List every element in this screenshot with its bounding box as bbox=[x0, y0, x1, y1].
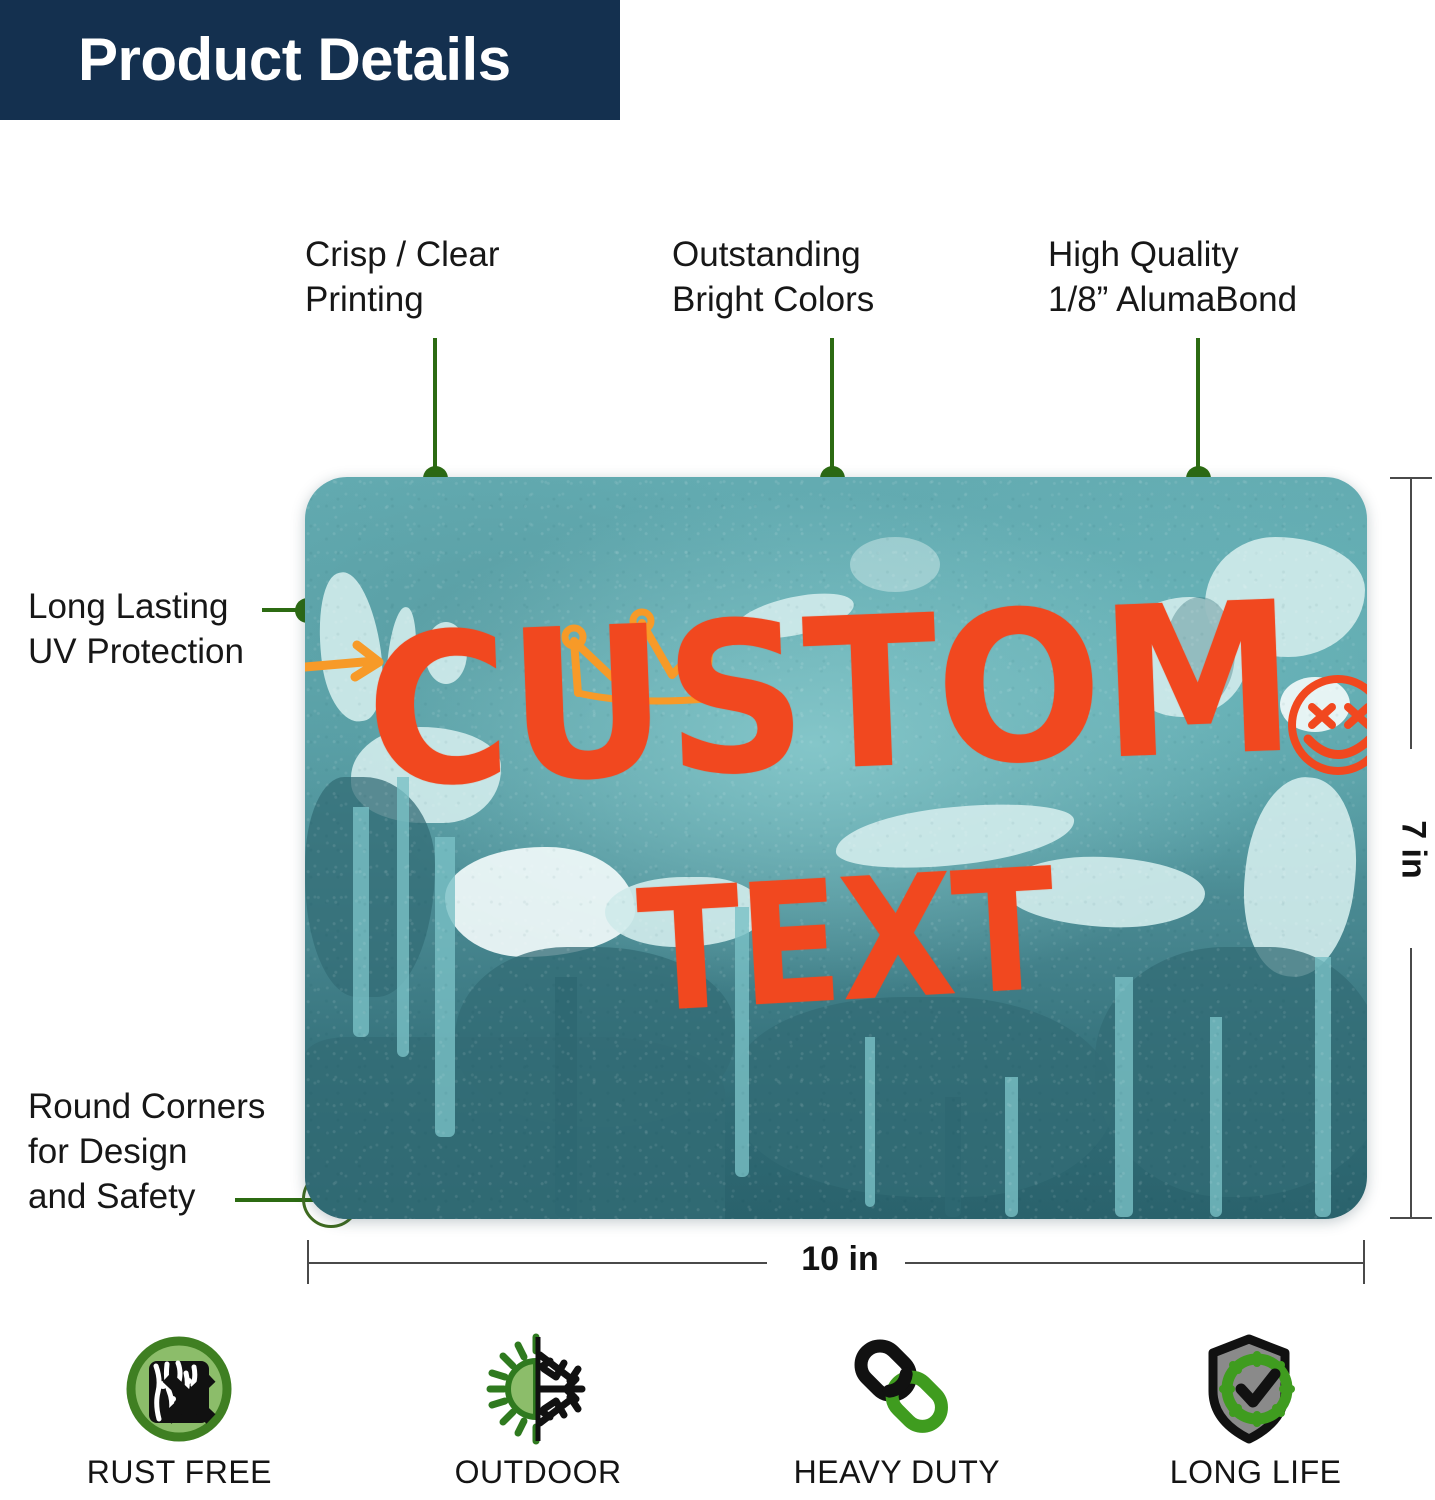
feature-label-heavy-duty: HEAVY DUTY bbox=[794, 1454, 1001, 1491]
dimension-tick-top bbox=[1390, 477, 1432, 479]
leader-line-crisp bbox=[433, 338, 437, 478]
header-banner: Product Details bbox=[0, 0, 620, 120]
callout-round-corners: Round Corners for Design and Safety bbox=[28, 1085, 265, 1219]
callout-long-lasting-uv-protection: Long Lasting UV Protection bbox=[28, 585, 244, 675]
product-sign-preview[interactable]: CUSTOM TEXT bbox=[305, 477, 1367, 1219]
callout-crisp-clear-printing: Crisp / Clear Printing bbox=[305, 233, 499, 323]
dimension-line-height-top bbox=[1410, 477, 1412, 749]
dimension-label-width: 10 in bbox=[795, 1240, 885, 1279]
leader-line-quality bbox=[1196, 338, 1200, 478]
dimension-tick-left bbox=[307, 1240, 309, 1284]
feature-label-outdoor: OUTDOOR bbox=[455, 1454, 622, 1491]
leader-line-bright bbox=[830, 338, 834, 478]
feature-outdoor[interactable]: OUTDOOR bbox=[359, 1330, 718, 1491]
chain-link-icon bbox=[841, 1330, 953, 1448]
feature-long-life[interactable]: LONG LIFE bbox=[1076, 1330, 1435, 1491]
dimension-line-width-right bbox=[905, 1262, 1365, 1264]
page-title: Product Details bbox=[0, 30, 511, 90]
feature-rust-free[interactable]: RUST FREE bbox=[0, 1330, 359, 1491]
feature-heavy-duty[interactable]: HEAVY DUTY bbox=[718, 1330, 1077, 1491]
feature-label-rust-free: RUST FREE bbox=[87, 1454, 272, 1491]
dimension-tick-bottom bbox=[1390, 1217, 1432, 1219]
dimension-line-height-bottom bbox=[1410, 948, 1412, 1219]
dimension-tick-right bbox=[1363, 1240, 1365, 1284]
feature-label-long-life: LONG LIFE bbox=[1170, 1454, 1342, 1491]
rust-free-icon bbox=[123, 1330, 235, 1448]
callout-high-quality-alumabond: High Quality 1/8” AlumaBond bbox=[1048, 233, 1297, 323]
dimension-line-width-left bbox=[307, 1262, 767, 1264]
sign-custom-text-line2: TEXT bbox=[635, 859, 1057, 1026]
feature-badges-row: RUST FREE bbox=[0, 1330, 1435, 1500]
sign-custom-text-line1: CUSTOM bbox=[363, 589, 1297, 803]
sun-snowflake-icon bbox=[478, 1330, 598, 1448]
callout-outstanding-bright-colors: Outstanding Bright Colors bbox=[672, 233, 874, 323]
dimension-label-height: 7 in bbox=[1394, 815, 1433, 885]
shield-clock-icon bbox=[1197, 1330, 1315, 1448]
